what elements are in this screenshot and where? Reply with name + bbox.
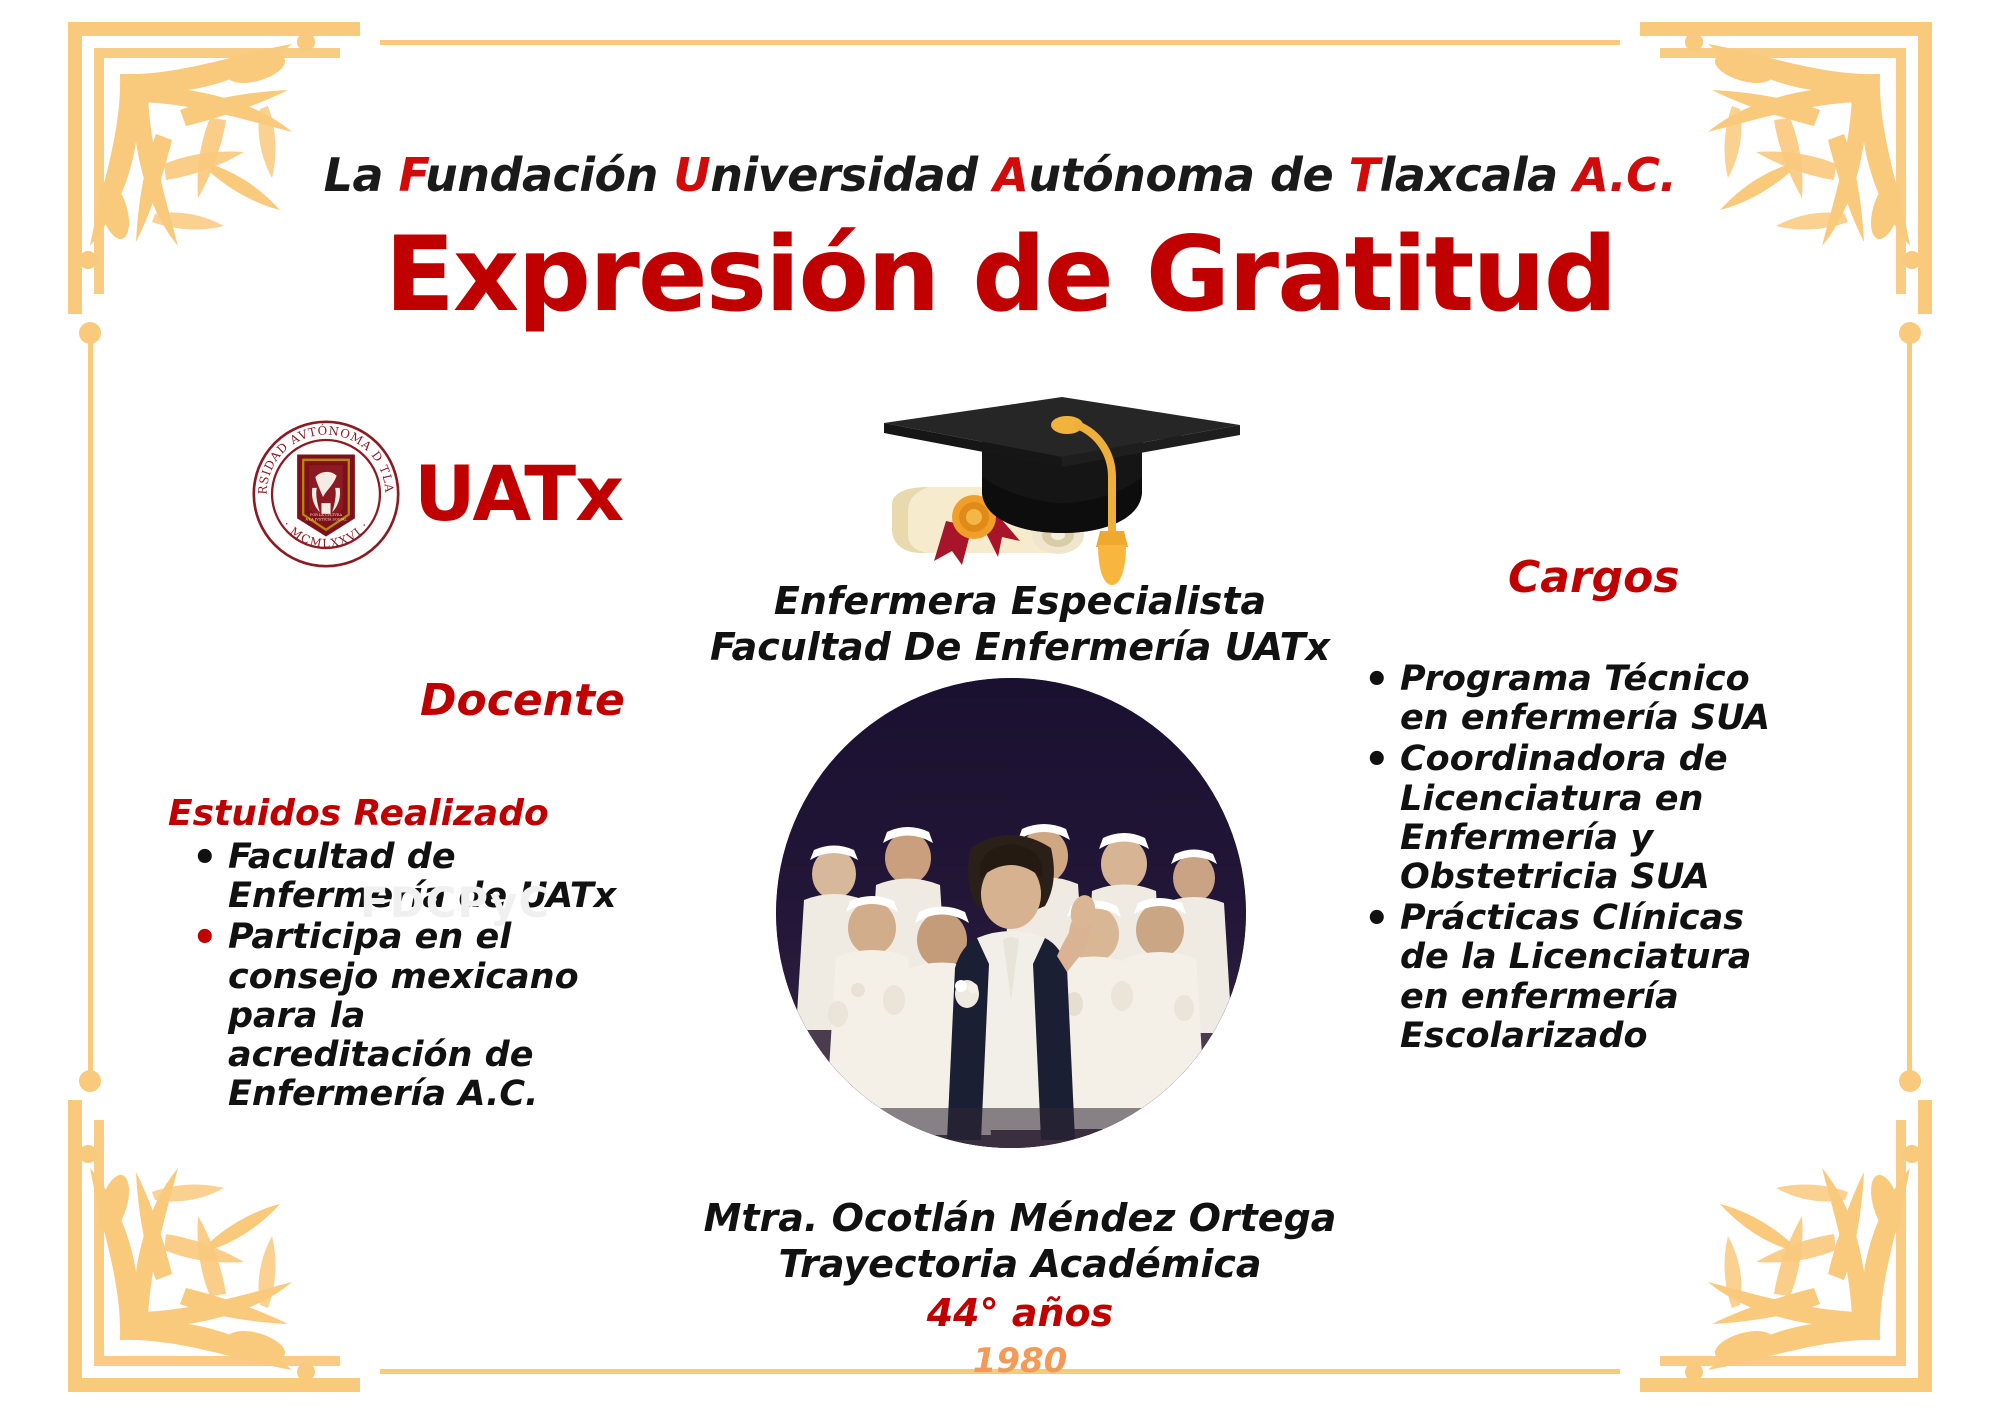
organization-subtitle: La Fundación Universidad Autónoma de Tla… xyxy=(0,148,2000,202)
subtitle-part-7: T xyxy=(1349,148,1380,202)
frame-rule-left xyxy=(88,330,93,1084)
svg-text:A LA JVSTICIA SOCIAL: A LA JVSTICIA SOCIAL xyxy=(304,518,347,522)
cargos-list: Programa Técnico en enfermería SUACoordi… xyxy=(1352,660,1792,1058)
graduation-cap-icon xyxy=(862,395,1262,590)
subtitle-part-6: utónoma de xyxy=(1028,148,1348,202)
list-item: Programa Técnico en enfermería SUA xyxy=(1352,660,1792,738)
subtitle-part-3: U xyxy=(673,148,710,202)
subtitle-part-2: undación xyxy=(425,148,673,202)
page-title: Expresión de Gratitud xyxy=(0,215,2000,335)
frame-rule-top xyxy=(380,40,1620,45)
subtitle-part-8: laxcala xyxy=(1380,148,1574,202)
list-item: Participa en el consejo mexicano para la… xyxy=(180,918,620,1114)
frame-rule-right xyxy=(1907,330,1912,1084)
frame-dot-right-bottom xyxy=(1899,1070,1921,1092)
honoree-photo xyxy=(776,678,1246,1148)
years-of-service: 44° años xyxy=(680,1291,1360,1337)
role-line-1: Enfermera Especialista xyxy=(700,578,1340,624)
estudios-list: Facultad de Enfermería de UATxParticipa … xyxy=(180,838,620,1116)
uatx-seal-icon: VNIVERSIDAD AVTÓNOMA D TLAXCALA · MCMLXX… xyxy=(250,418,402,570)
start-year: 1980 xyxy=(680,1341,1360,1382)
trajectory-label: Trayectoria Académica xyxy=(680,1242,1360,1288)
honoree-footer: Mtra. Ocotlán Méndez Ortega Trayectoria … xyxy=(680,1196,1360,1382)
uatx-brand-block: VNIVERSIDAD AVTÓNOMA D TLAXCALA · MCMLXX… xyxy=(250,418,623,570)
subtitle-part-4: niversidad xyxy=(710,148,993,202)
corner-flourish-bottom-left xyxy=(60,1070,390,1400)
section-subheading-estudios: Estuidos Realizado xyxy=(168,793,549,834)
frame-dot-left-bottom xyxy=(79,1070,101,1092)
corner-flourish-bottom-right xyxy=(1610,1070,1940,1400)
subtitle-part-0: La xyxy=(324,148,399,202)
svg-text:POR LA CVLTVRA: POR LA CVLTVRA xyxy=(310,513,343,517)
honoree-name: Mtra. Ocotlán Méndez Ortega xyxy=(680,1196,1360,1242)
role-line-2: Facultad De Enfermería UATx xyxy=(700,624,1340,670)
uatx-acronym: UATx xyxy=(414,456,623,532)
list-item: Coordinadora de Licenciatura en Enfermer… xyxy=(1352,740,1792,897)
list-item: Facultad de Enfermería de UATx xyxy=(180,838,620,916)
subtitle-part-5: A xyxy=(993,148,1028,202)
center-role-block: Enfermera Especialista Facultad De Enfer… xyxy=(700,578,1340,671)
subtitle-part-1: F xyxy=(399,148,426,202)
list-item: Prácticas Clínicas de la Licenciatura en… xyxy=(1352,899,1792,1056)
subtitle-part-9: A.C. xyxy=(1573,148,1676,202)
section-heading-cargos: Cargos xyxy=(1508,552,1680,603)
section-heading-docente: Docente xyxy=(420,675,625,726)
